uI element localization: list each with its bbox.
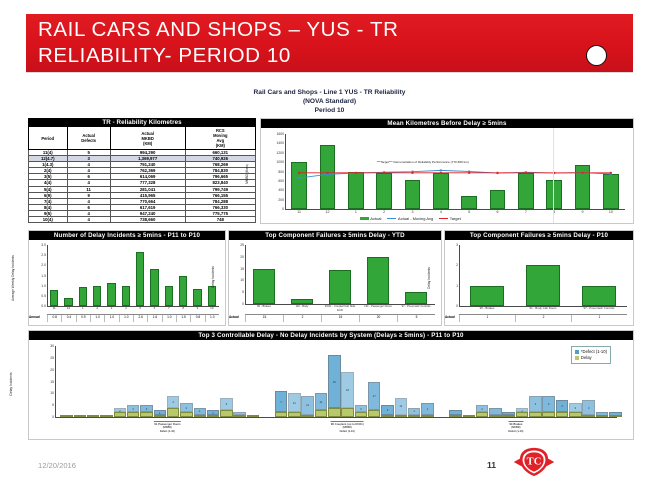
delay-segment bbox=[582, 415, 595, 417]
bar-value-label: 11 bbox=[301, 403, 314, 407]
mean-km-before-delay-panel: Mean Kilometres Before Delay ≥ 5mins 020… bbox=[260, 118, 634, 224]
y-tick-label: 30 bbox=[50, 344, 54, 348]
bar-value-label: 3 bbox=[569, 406, 582, 410]
stacked-bar: 2 bbox=[180, 403, 193, 417]
chart-legend: *Defect (1-10)Delay bbox=[571, 346, 611, 364]
data-row-value: 1.0 bbox=[90, 315, 104, 322]
bar-value-label: 3 bbox=[355, 407, 368, 411]
stacked-bar: 11 bbox=[315, 393, 328, 417]
legend-swatch bbox=[575, 350, 579, 354]
delay-segment bbox=[408, 415, 421, 417]
delay-segment bbox=[167, 408, 180, 417]
target-annotation: ***Target*** Demonstration of Reliabilit… bbox=[377, 160, 469, 164]
delay-segment bbox=[140, 412, 153, 417]
bar-value-label: 2 bbox=[140, 407, 153, 411]
y-tick-label: 3 bbox=[456, 243, 458, 247]
legend-item: Actual bbox=[360, 216, 382, 221]
component-failures-ytd-plot: 051015202590 - Brakes110 - BodyRC01 - Co… bbox=[229, 240, 441, 325]
x-tick-label: 131 - Passenger Doors bbox=[360, 305, 396, 309]
legend-swatch bbox=[387, 218, 396, 219]
delay-segment bbox=[127, 412, 140, 417]
bar bbox=[526, 265, 560, 306]
data-row-value: 1.0 bbox=[162, 315, 176, 322]
data-row-value: 0.8 bbox=[47, 315, 61, 322]
svg-text:TC: TC bbox=[527, 457, 542, 468]
legend-item: Delay bbox=[575, 355, 607, 361]
data-row-value: 1.6 bbox=[147, 315, 161, 322]
bar-value-label: 1 bbox=[194, 409, 207, 413]
stacked-bar: 2 bbox=[127, 405, 140, 417]
moving-avg-cell: 748 bbox=[185, 217, 255, 223]
stacked-bar bbox=[609, 412, 622, 417]
bar bbox=[122, 286, 131, 306]
bar bbox=[136, 252, 145, 306]
data-row-value: 1 bbox=[459, 315, 515, 322]
subheader-line-1: Rail Cars and Shops - Line 1 YUS - TR Re… bbox=[0, 88, 659, 97]
x-tick-label: 3 bbox=[105, 307, 119, 311]
legend-label: Target bbox=[450, 216, 461, 221]
data-row-strip: Actual121 bbox=[459, 314, 627, 322]
panel-divider bbox=[553, 128, 554, 223]
legend-swatch bbox=[360, 217, 369, 220]
reliability-table: TR - Reliability Kilometres Period Actua… bbox=[28, 118, 256, 223]
delay-segment bbox=[247, 415, 260, 417]
data-row-value: 0.9 bbox=[76, 315, 90, 322]
ttc-logo-icon: TC bbox=[512, 447, 556, 477]
subheader-line-2: (NOVA Standard) bbox=[0, 97, 659, 106]
dashboard-sheet: TR - Reliability Kilometres Period Actua… bbox=[28, 118, 632, 438]
x-tick-label: 11 bbox=[47, 307, 61, 311]
defect-segment bbox=[489, 408, 502, 415]
bar-value-label: 11 bbox=[315, 400, 328, 404]
defects-cell: 4 bbox=[67, 217, 110, 223]
x-tick-label: 7 bbox=[162, 307, 176, 311]
data-row-strip: Actual15215205 bbox=[245, 314, 435, 322]
y-tick-label: 0 bbox=[242, 302, 244, 306]
legend-item: Target bbox=[439, 216, 461, 221]
y-axis bbox=[245, 245, 246, 304]
bar bbox=[150, 269, 159, 306]
x-tick-label: 1 bbox=[76, 307, 90, 311]
y-tick-label: 5 bbox=[52, 403, 54, 407]
stacked-bar bbox=[87, 415, 100, 417]
data-row-value: 2 bbox=[515, 315, 571, 322]
y-tick-label: 10 bbox=[240, 278, 244, 282]
y-tick-label: 3.0 bbox=[41, 243, 46, 247]
bar bbox=[79, 287, 88, 306]
y-axis-label: Delay Incidents bbox=[211, 254, 215, 300]
delay-segment bbox=[596, 415, 609, 417]
bar bbox=[107, 283, 116, 306]
bar-value-label: 2 bbox=[180, 406, 193, 410]
bar bbox=[253, 269, 276, 304]
x-axis bbox=[285, 209, 625, 210]
delay-segment bbox=[476, 412, 489, 417]
delay-segment bbox=[220, 410, 233, 417]
legend-label: Actual bbox=[370, 216, 381, 221]
bar bbox=[329, 270, 352, 304]
data-row-value: 15 bbox=[245, 315, 283, 322]
y-axis-label: MKBD (Kms) bbox=[245, 154, 249, 194]
bar-value-label: 2 bbox=[114, 409, 127, 413]
plot-axes: 012390 - Brakes91 - Body Cab Doors97 - P… bbox=[459, 245, 627, 306]
group-sub2: Defect (1-10) bbox=[508, 430, 523, 433]
y-axis-label: Delay Incidents bbox=[9, 359, 13, 409]
y-tick-label: 2 bbox=[456, 263, 458, 267]
x-tick-label: 1 bbox=[355, 210, 357, 214]
x-tick-label: 97 - Pneumatic Controls bbox=[398, 305, 434, 309]
delay-segment bbox=[449, 415, 462, 417]
data-row-value: 15 bbox=[321, 315, 359, 322]
delay-segment bbox=[114, 412, 127, 417]
y-tick-label: 25 bbox=[240, 243, 244, 247]
legend-label: Actual - Moving Avg bbox=[398, 216, 433, 221]
y-axis-label: Delay Incidents bbox=[427, 255, 431, 301]
bar-value-label: 16 bbox=[328, 380, 341, 384]
mkbd-cell: 738,660 bbox=[110, 217, 185, 223]
legend-swatch bbox=[439, 218, 448, 219]
x-tick-label: 6 bbox=[497, 210, 499, 214]
stacked-bar: 7 bbox=[275, 391, 288, 417]
legend-item: Actual - Moving Avg bbox=[387, 216, 433, 221]
data-row-value: 2 bbox=[283, 315, 321, 322]
bar bbox=[470, 286, 504, 306]
stacked-bar bbox=[449, 410, 462, 417]
stacked-bar: 3 bbox=[569, 403, 582, 417]
delay-segment bbox=[556, 412, 569, 417]
th-actual-defects: ActualDefects bbox=[67, 127, 110, 150]
stacked-bar: 4 bbox=[167, 396, 180, 417]
delay-segment bbox=[395, 415, 408, 417]
stacked-bar: 1 bbox=[154, 410, 167, 417]
delay-incidents-plot: 0.00.51.01.52.02.53.0111212345678910Aver… bbox=[29, 240, 225, 325]
x-axis bbox=[55, 417, 617, 418]
delay-segment bbox=[275, 412, 288, 417]
delay-segment bbox=[341, 408, 354, 417]
stacked-bar: 3 bbox=[220, 398, 233, 417]
bar-value-label: 11 bbox=[288, 401, 301, 405]
x-tick-label: 97 - Pneumatic Controls bbox=[572, 307, 626, 311]
component-failures-ytd-title: Top Component Failures ≥ 5mins Delay - Y… bbox=[229, 231, 441, 240]
y-axis bbox=[47, 245, 48, 306]
delay-segment bbox=[502, 415, 515, 417]
stacked-bar: 3 bbox=[381, 405, 394, 417]
stacked-bar: 11 bbox=[301, 396, 314, 417]
y-axis-label: Average Weekly Delay Incidents bbox=[11, 255, 15, 301]
stacked-bar: 2 bbox=[140, 405, 153, 417]
x-tick-label: 7 bbox=[525, 210, 527, 214]
group-sub2: Defect (1-10) bbox=[331, 430, 364, 433]
controllable-delay-plot: 0510152025302221421137111111161631731111… bbox=[29, 340, 633, 439]
stacked-bar: 3 bbox=[355, 405, 368, 417]
x-tick-label: 8 bbox=[176, 307, 190, 311]
bar bbox=[193, 289, 202, 306]
data-row-value: 1.5 bbox=[176, 315, 190, 322]
data-row-label: Actual bbox=[229, 315, 245, 319]
th-rcs-moving-avg: RCSMovingAvg(KM) bbox=[185, 127, 255, 150]
delay-segment bbox=[100, 415, 113, 417]
table-title: TR - Reliability Kilometres bbox=[29, 119, 256, 127]
bar-value-label: 1 bbox=[207, 411, 220, 415]
stacked-bar: 1 bbox=[194, 408, 207, 417]
component-failures-p10-title: Top Component Failures ≥ 5mins Delay - P… bbox=[445, 231, 633, 240]
stacked-bar: 11 bbox=[288, 393, 301, 417]
x-tick-label: 10 bbox=[609, 210, 613, 214]
data-row-label: Actual bbox=[445, 315, 459, 319]
bar bbox=[165, 286, 174, 306]
delay-segment bbox=[463, 415, 476, 417]
th-actual-mkbd: ActualMKBD(KM) bbox=[110, 127, 185, 150]
bar-value-label: 4 bbox=[542, 402, 555, 406]
x-tick-label: 2 bbox=[383, 210, 385, 214]
delay-segment bbox=[355, 412, 368, 417]
delay-segment bbox=[154, 415, 167, 417]
y-tick-label: 20 bbox=[240, 255, 244, 259]
y-tick-label: 5 bbox=[242, 290, 244, 294]
y-tick-label: 2.0 bbox=[41, 263, 46, 267]
data-row-value: 0.8 bbox=[190, 315, 204, 322]
mean-km-axes: 0200400600800100012001400160011121234567… bbox=[285, 134, 625, 209]
group-label: 94 Brakes(MKBD)Defect (1-10) bbox=[508, 421, 523, 433]
data-row-value: 1.0 bbox=[119, 315, 133, 322]
bar-value-label: 4 bbox=[167, 400, 180, 404]
x-tick-label: 2 bbox=[90, 307, 104, 311]
stacked-bar: 1 bbox=[207, 410, 220, 417]
x-tick-label: 5 bbox=[133, 307, 147, 311]
delay-segment bbox=[489, 415, 502, 417]
top-component-failures-p10-panel: Top Component Failures ≥ 5mins Delay - P… bbox=[444, 230, 634, 326]
plot-axes: 0.00.51.01.52.02.53.0111212345678910 bbox=[47, 245, 219, 306]
bar-value-label: 3 bbox=[220, 402, 233, 406]
mean-km-plot: 0200400600800100012001400160011121234567… bbox=[261, 128, 633, 223]
stacked-bar: 1 bbox=[516, 408, 529, 417]
data-row-value: 1.0 bbox=[104, 315, 118, 322]
bar-value-label: 7 bbox=[275, 400, 288, 404]
stacked-bar: 1 bbox=[408, 408, 421, 417]
legend-swatch bbox=[575, 356, 579, 360]
stacked-bar: 16 bbox=[341, 372, 354, 417]
bar-value-label: 16 bbox=[341, 388, 354, 392]
bar-value-label: 4 bbox=[529, 402, 542, 406]
bar bbox=[50, 290, 59, 306]
delay-segment bbox=[381, 415, 394, 417]
x-tick-label: 90 - Brakes bbox=[460, 307, 514, 311]
delay-segment bbox=[529, 412, 542, 417]
top-component-failures-ytd-panel: Top Component Failures ≥ 5mins Delay - Y… bbox=[228, 230, 442, 326]
delay-incidents-chart-title: Number of Delay Incidents ≥ 5mins - P11 … bbox=[29, 231, 225, 240]
delay-segment bbox=[60, 415, 73, 417]
y-axis bbox=[459, 245, 460, 306]
y-tick-label: 0 bbox=[456, 304, 458, 308]
y-tick-label: 25 bbox=[50, 356, 54, 360]
stacked-bar bbox=[247, 415, 260, 417]
bar bbox=[367, 257, 390, 304]
delay-segment bbox=[609, 415, 622, 417]
delay-segment bbox=[87, 415, 100, 417]
y-tick-label: 1400 bbox=[276, 141, 284, 145]
data-row-value: 1 bbox=[571, 315, 627, 322]
th-period: Period bbox=[29, 127, 68, 150]
bar-value-label: 1 bbox=[421, 407, 434, 411]
stacked-bar: 2 bbox=[476, 405, 489, 417]
y-tick-label: 15 bbox=[50, 380, 54, 384]
number-of-delay-incidents-panel: Number of Delay Incidents ≥ 5mins - P11 … bbox=[28, 230, 226, 326]
delay-segment bbox=[207, 415, 220, 417]
data-row-value: 20 bbox=[359, 315, 397, 322]
x-tick-label: 9 bbox=[582, 210, 584, 214]
stacked-bar bbox=[233, 412, 246, 417]
group-sub2: Defect (1-10) bbox=[154, 430, 180, 433]
footer-date: 12/20/2016 bbox=[38, 461, 76, 470]
x-tick-label: 12 bbox=[62, 307, 76, 311]
delay-segment bbox=[516, 412, 529, 417]
stacked-bar: 3 bbox=[556, 400, 569, 417]
data-row-value: 1.0 bbox=[205, 315, 219, 322]
table-row: 10(4)4738,660748 bbox=[29, 217, 256, 223]
delay-segment bbox=[288, 412, 301, 417]
stacked-bar: 4 bbox=[529, 396, 542, 417]
mean-km-chart-title: Mean Kilometres Before Delay ≥ 5mins bbox=[261, 119, 633, 128]
x-tick-label: 91 - Body Cab Doors bbox=[516, 307, 570, 311]
bar bbox=[405, 292, 428, 304]
y-tick-label: 600 bbox=[278, 179, 284, 183]
y-tick-label: 400 bbox=[278, 188, 284, 192]
bar-value-label: 1 bbox=[408, 409, 421, 413]
data-row-value: 0.4 bbox=[61, 315, 75, 322]
bar bbox=[291, 299, 314, 304]
delay-segment bbox=[569, 412, 582, 417]
stacked-bar: 17 bbox=[368, 382, 381, 418]
y-tick-label: 20 bbox=[50, 368, 54, 372]
stacked-bar bbox=[100, 415, 113, 417]
stacked-bar: 11 bbox=[395, 398, 408, 417]
delay-segment bbox=[301, 415, 314, 417]
x-tick-label: 10 bbox=[205, 307, 219, 311]
x-tick-label: 11 bbox=[297, 210, 301, 214]
y-tick-label: 0 bbox=[282, 207, 284, 211]
y-tick-label: 15 bbox=[240, 267, 244, 271]
series-target bbox=[285, 134, 625, 209]
delay-segment bbox=[328, 408, 341, 417]
group-label: 91 Passenger Doors(MKBD)Defect (1-10) bbox=[154, 421, 180, 433]
x-tick-label: 5 bbox=[468, 210, 470, 214]
stacked-bar: 1 bbox=[421, 403, 434, 417]
stacked-bar bbox=[502, 412, 515, 417]
group-label: 90 Couplers (up to RC01)(MKBD)Defect (1-… bbox=[331, 421, 364, 433]
stacked-bar: 16 bbox=[328, 355, 341, 417]
reliability-kilometres-table-panel: TR - Reliability Kilometres Period Actua… bbox=[28, 118, 256, 222]
plot-axes: 051015202590 - Brakes110 - BodyRC01 - Co… bbox=[245, 245, 435, 304]
data-row-value: 2.6 bbox=[133, 315, 147, 322]
x-tick-label: 12 bbox=[326, 210, 330, 214]
y-axis bbox=[55, 346, 56, 417]
bullet-dot-icon bbox=[586, 45, 607, 66]
stacked-bar bbox=[74, 415, 87, 417]
x-tick-label: 110 - Body bbox=[284, 305, 320, 309]
stacked-bar: 2 bbox=[114, 408, 127, 417]
bar-value-label: 3 bbox=[582, 406, 595, 410]
chart-subheader: Rail Cars and Shops - Line 1 YUS - TR Re… bbox=[0, 88, 659, 116]
controllable-axes: 0510152025302221421137111111161631731111… bbox=[55, 346, 617, 417]
data-row-strip: Annual0.80.40.91.01.01.02.61.61.01.50.81… bbox=[47, 314, 219, 322]
footer-page-number: 11 bbox=[487, 460, 496, 470]
y-tick-label: 200 bbox=[278, 198, 284, 202]
bar bbox=[582, 286, 616, 306]
stacked-bar bbox=[596, 412, 609, 417]
x-tick-label: 4 bbox=[440, 210, 442, 214]
stacked-bar: 4 bbox=[542, 396, 555, 417]
y-tick-label: 10 bbox=[50, 391, 54, 395]
delay-segment bbox=[368, 410, 381, 417]
stacked-bar bbox=[463, 415, 476, 417]
bar-value-label: 11 bbox=[395, 404, 408, 408]
delay-segment bbox=[233, 415, 246, 417]
x-tick-label: 90 - Brakes bbox=[246, 305, 282, 309]
y-tick-label: 1000 bbox=[276, 160, 284, 164]
bar-value-label: 3 bbox=[556, 404, 569, 408]
bar-value-label: 17 bbox=[368, 394, 381, 398]
x-tick-label: 3 bbox=[412, 210, 414, 214]
subheader-line-3: Period 10 bbox=[0, 106, 659, 115]
legend-label: Delay bbox=[581, 355, 592, 361]
delay-segment bbox=[542, 412, 555, 417]
bar-value-label: 2 bbox=[127, 407, 140, 411]
x-tick-label: RC01 - Coupler/Cab Side ECR bbox=[322, 305, 358, 312]
table-body: 11(4)5994,290660,13112(4.7)31,369,977740… bbox=[29, 150, 256, 223]
delay-segment bbox=[194, 415, 207, 417]
title-banner: RAIL CARS AND SHOPS – YUS - TR RELIABILI… bbox=[26, 14, 633, 72]
y-tick-label: 1200 bbox=[276, 151, 284, 155]
bar-value-label: 1 bbox=[516, 409, 529, 413]
y-tick-label: 800 bbox=[278, 170, 284, 174]
delay-segment bbox=[315, 410, 328, 417]
data-row-value: 5 bbox=[397, 315, 435, 322]
y-tick-label: 0.5 bbox=[41, 294, 46, 298]
y-tick-label: 1.0 bbox=[41, 284, 46, 288]
bar-value-label: 3 bbox=[381, 408, 394, 412]
x-tick-label: 9 bbox=[191, 307, 205, 311]
stacked-bar bbox=[60, 415, 73, 417]
delay-segment bbox=[421, 415, 434, 417]
component-failures-p10-plot: 012390 - Brakes91 - Body Cab Doors97 - P… bbox=[445, 240, 633, 325]
bar-value-label: 2 bbox=[476, 407, 489, 411]
data-row-label: Annual bbox=[29, 315, 47, 319]
bar bbox=[64, 298, 73, 306]
controllable-delay-title: Top 3 Controllable Delay - No Delay Inci… bbox=[29, 331, 633, 340]
x-tick-label: 4 bbox=[119, 307, 133, 311]
bar-value-label: 1 bbox=[154, 411, 167, 415]
bar bbox=[179, 276, 188, 307]
page-title: RAIL CARS AND SHOPS – YUS - TR RELIABILI… bbox=[38, 17, 538, 69]
y-tick-label: 1600 bbox=[276, 132, 284, 136]
chart-legend: ActualActual - Moving AvgTarget bbox=[360, 216, 461, 221]
delay-segment bbox=[180, 412, 193, 417]
y-tick-label: 2.5 bbox=[41, 253, 46, 257]
top3-controllable-delay-panel: Top 3 Controllable Delay - No Delay Inci… bbox=[28, 330, 634, 440]
x-tick-label: 6 bbox=[148, 307, 162, 311]
delay-segment bbox=[74, 415, 87, 417]
y-tick-label: 1.5 bbox=[41, 274, 46, 278]
y-tick-label: 0 bbox=[52, 415, 54, 419]
y-tick-label: 0.0 bbox=[41, 304, 46, 308]
stacked-bar bbox=[489, 408, 502, 417]
y-tick-label: 1 bbox=[456, 284, 458, 288]
period-cell: 10(4) bbox=[29, 217, 68, 223]
stacked-bar: 3 bbox=[582, 400, 595, 417]
bar bbox=[93, 286, 102, 306]
